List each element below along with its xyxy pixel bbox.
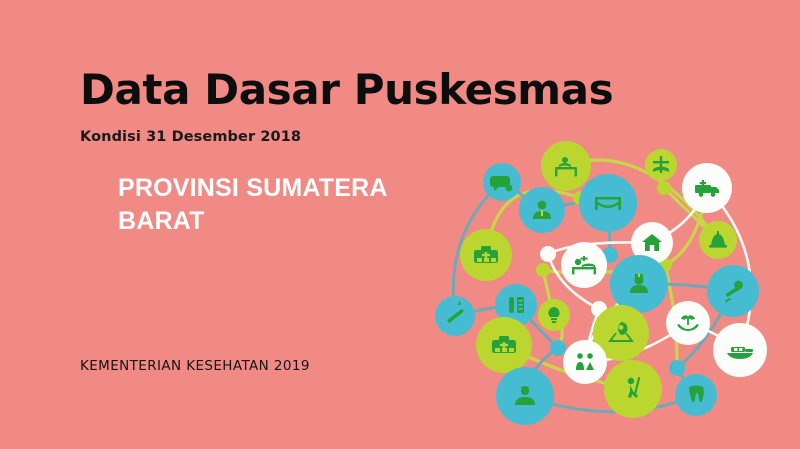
network-dot	[536, 263, 550, 277]
slide-canvas: Data Dasar Puskesmas Kondisi 31 Desember…	[0, 0, 800, 449]
node-exercise-icon	[604, 360, 662, 418]
node-stretcher-icon	[541, 141, 591, 191]
node-family-icon	[563, 340, 607, 384]
network-dot	[540, 246, 556, 262]
node-hammock-bed-icon	[579, 174, 637, 232]
node-health-worker-icon	[496, 367, 554, 425]
node-doctor-icon	[519, 187, 565, 233]
node-hands-plant-icon	[666, 301, 710, 345]
node-boat-icon	[713, 323, 767, 377]
network-dot	[657, 181, 671, 195]
node-ambulance-icon	[682, 163, 732, 213]
node-chat-bubble-icon	[483, 163, 521, 201]
node-syringe-icon	[707, 265, 759, 317]
node-tooth-bulb-icon	[538, 299, 570, 331]
ministry-footer: KEMENTERIAN KESEHATAN 2019	[80, 358, 310, 374]
network-dot	[550, 340, 566, 356]
node-medical-bag-icon	[460, 229, 512, 281]
node-pen-icon	[435, 296, 475, 336]
province-heading: PROVINSI SUMATERA BARAT	[118, 172, 418, 238]
subtitle-condition-date: Kondisi 31 Desember 2018	[80, 129, 301, 145]
node-microscope-icon	[699, 221, 737, 259]
network-dot	[669, 360, 685, 376]
node-plant-icon	[645, 149, 677, 181]
health-network-illustration	[428, 128, 788, 428]
node-patient-bed-icon	[561, 242, 607, 288]
node-first-aid-kit-icon	[476, 317, 532, 373]
node-nurse-icon	[610, 255, 668, 313]
page-title: Data Dasar Puskesmas	[80, 68, 613, 112]
node-tooth-icon	[675, 374, 717, 416]
